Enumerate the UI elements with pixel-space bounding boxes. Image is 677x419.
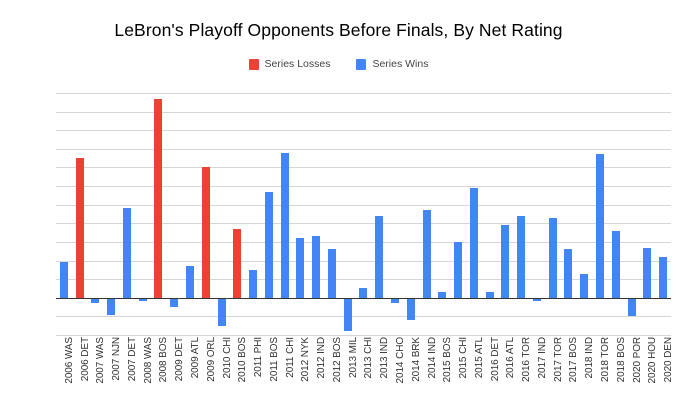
x-label-slot: 2014 IND (419, 335, 435, 419)
bar[interactable] (643, 248, 651, 298)
x-label-slot: 2009 ORL (198, 335, 214, 419)
x-label-slot: 2006 WAS (56, 335, 72, 419)
legend-label-series-losses: Series Losses (265, 58, 331, 70)
x-label-slot: 2013 IND (371, 335, 387, 419)
x-label-slot: 2018 BOS (608, 335, 624, 419)
x-label-slot: 2006 DET (72, 335, 88, 419)
bar[interactable] (659, 257, 667, 298)
x-label-slot: 2014 CHO (387, 335, 403, 419)
legend-label-series-wins: Series Wins (372, 58, 428, 70)
x-label-slot: 2012 BOS (324, 335, 340, 419)
x-label-slot: 2017 BOS (561, 335, 577, 419)
bar[interactable] (628, 298, 636, 317)
x-label-slot: 2016 ATL (498, 335, 514, 419)
chart-legend: Series Losses Series Wins (0, 58, 677, 70)
x-axis-tick-label: 2020 DEN (663, 337, 674, 382)
x-label-slot: 2020 DEN (655, 335, 671, 419)
bar[interactable] (123, 208, 131, 297)
x-label-slot: 2007 WAS (88, 335, 104, 419)
bar[interactable] (423, 210, 431, 297)
bar[interactable] (564, 249, 572, 297)
bar[interactable] (375, 216, 383, 298)
x-label-slot: 2008 BOS (151, 335, 167, 419)
bar[interactable] (517, 216, 525, 298)
x-label-slot: 2007 DET (119, 335, 135, 419)
x-label-slot: 2013 CHI (356, 335, 372, 419)
x-label-slot: 2015 BOS (434, 335, 450, 419)
bar[interactable] (501, 225, 509, 298)
bar[interactable] (296, 238, 304, 298)
x-label-slot: 2020 POR (624, 335, 640, 419)
bar[interactable] (202, 167, 210, 297)
zero-axis-line (56, 298, 671, 300)
x-label-slot: 2018 IND (576, 335, 592, 419)
x-label-slot: 2017 TOR (545, 335, 561, 419)
bar[interactable] (186, 266, 194, 298)
bar[interactable] (107, 298, 115, 315)
x-label-slot: 2017 IND (529, 335, 545, 419)
x-label-slot: 2011 CHI (277, 335, 293, 419)
x-label-slot: 2015 ATL (466, 335, 482, 419)
x-label-slot: 2016 TOR (513, 335, 529, 419)
legend-swatch-losses-icon (249, 59, 259, 70)
bar[interactable] (596, 154, 604, 297)
x-label-slot: 2010 CHI (214, 335, 230, 419)
x-label-slot: 2012 IND (308, 335, 324, 419)
bar-chart: LeBron's Playoff Opponents Before Finals… (0, 0, 677, 419)
x-label-slot: 2010 BOS (229, 335, 245, 419)
x-label-slot: 2013 MIL (340, 335, 356, 419)
x-label-slot: 2007 NJN (103, 335, 119, 419)
bar[interactable] (249, 270, 257, 298)
bar[interactable] (454, 242, 462, 298)
bar[interactable] (612, 231, 620, 298)
legend-item-series-losses[interactable]: Series Losses (249, 58, 331, 70)
plot-area: +11+10+9+8+7+6+5+4+3+2+10-1-2 (56, 93, 671, 335)
bar[interactable] (549, 218, 557, 298)
x-label-slot: 2020 HOU (639, 335, 655, 419)
x-label-slot: 2011 BOS (261, 335, 277, 419)
bar[interactable] (154, 99, 162, 298)
bar[interactable] (281, 153, 289, 298)
bar[interactable] (76, 158, 84, 298)
legend-swatch-wins-icon (356, 59, 366, 70)
x-label-slot: 2011 PHI (245, 335, 261, 419)
bar[interactable] (328, 249, 336, 297)
bar[interactable] (218, 298, 226, 326)
bar[interactable] (233, 229, 241, 298)
x-label-slot: 2008 WAS (135, 335, 151, 419)
bar[interactable] (265, 192, 273, 298)
x-label-slot: 2016 DET (482, 335, 498, 419)
bar[interactable] (407, 298, 415, 320)
x-label-slot: 2018 TOR (592, 335, 608, 419)
bar[interactable] (470, 188, 478, 298)
x-label-slot: 2014 BRK (403, 335, 419, 419)
x-label-slot: 2009 ATL (182, 335, 198, 419)
bar[interactable] (60, 262, 68, 297)
chart-title: LeBron's Playoff Opponents Before Finals… (0, 20, 677, 41)
bar[interactable] (344, 298, 352, 332)
x-label-slot: 2012 NYK (293, 335, 309, 419)
x-axis-labels: 2006 WAS2006 DET2007 WAS2007 NJN2007 DET… (56, 335, 671, 419)
x-label-slot: 2009 DET (166, 335, 182, 419)
bar[interactable] (580, 274, 588, 298)
legend-item-series-wins[interactable]: Series Wins (356, 58, 428, 70)
bar[interactable] (312, 236, 320, 297)
bar[interactable] (359, 288, 367, 297)
x-label-slot: 2015 CHI (450, 335, 466, 419)
